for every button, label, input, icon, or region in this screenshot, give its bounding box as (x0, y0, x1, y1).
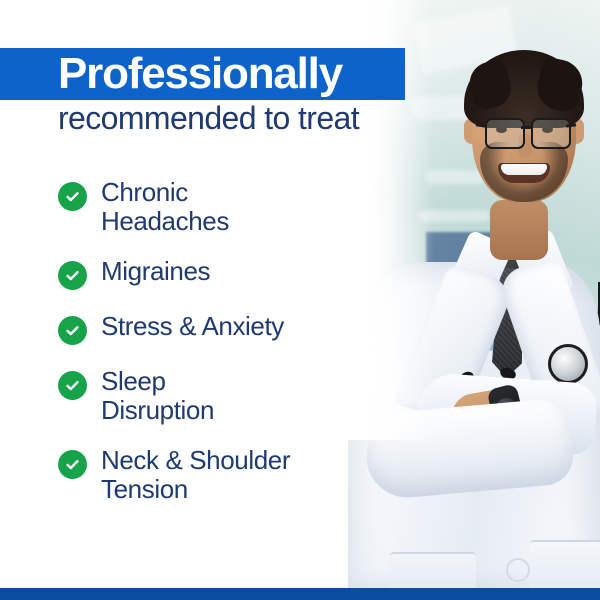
check-circle-icon (58, 316, 87, 345)
page-subtitle: recommended to treat (58, 101, 359, 136)
headline-banner: Professionally (0, 48, 405, 100)
list-item-label: Neck & Shoulder Tension (101, 446, 290, 503)
list-item: Sleep Disruption (58, 367, 358, 424)
list-item-label: Sleep Disruption (101, 367, 214, 424)
promotional-poster: Professionally recommended to treat Chro… (0, 0, 600, 600)
check-circle-icon (58, 371, 87, 400)
eyeglasses-lens-right (531, 118, 571, 149)
list-item: Stress & Anxiety (58, 312, 358, 345)
list-item: Migraines (58, 257, 358, 290)
stethoscope-chestpiece (548, 344, 588, 384)
list-item: Chronic Headaches (58, 178, 358, 235)
check-circle-icon (58, 450, 87, 479)
neck (490, 200, 548, 260)
list-item-label: Chronic Headaches (101, 178, 229, 235)
list-item-label: Migraines (101, 257, 210, 286)
eyeglasses-bridge (521, 126, 531, 129)
background-light-strip (426, 170, 486, 184)
check-circle-icon (58, 182, 87, 211)
list-item-label: Stress & Anxiety (101, 312, 284, 341)
list-item: Neck & Shoulder Tension (58, 446, 358, 503)
coat-button (506, 558, 530, 582)
check-circle-icon (58, 261, 87, 290)
eyeglasses-lens-left (485, 118, 525, 149)
teeth (501, 164, 547, 175)
coat-pocket-left (390, 552, 476, 592)
page-title: Professionally (58, 52, 342, 96)
bottom-accent-bar (0, 588, 600, 600)
coat-pocket-right (530, 540, 600, 592)
benefit-list: Chronic Headaches Migraines Stress & Anx… (58, 178, 358, 526)
